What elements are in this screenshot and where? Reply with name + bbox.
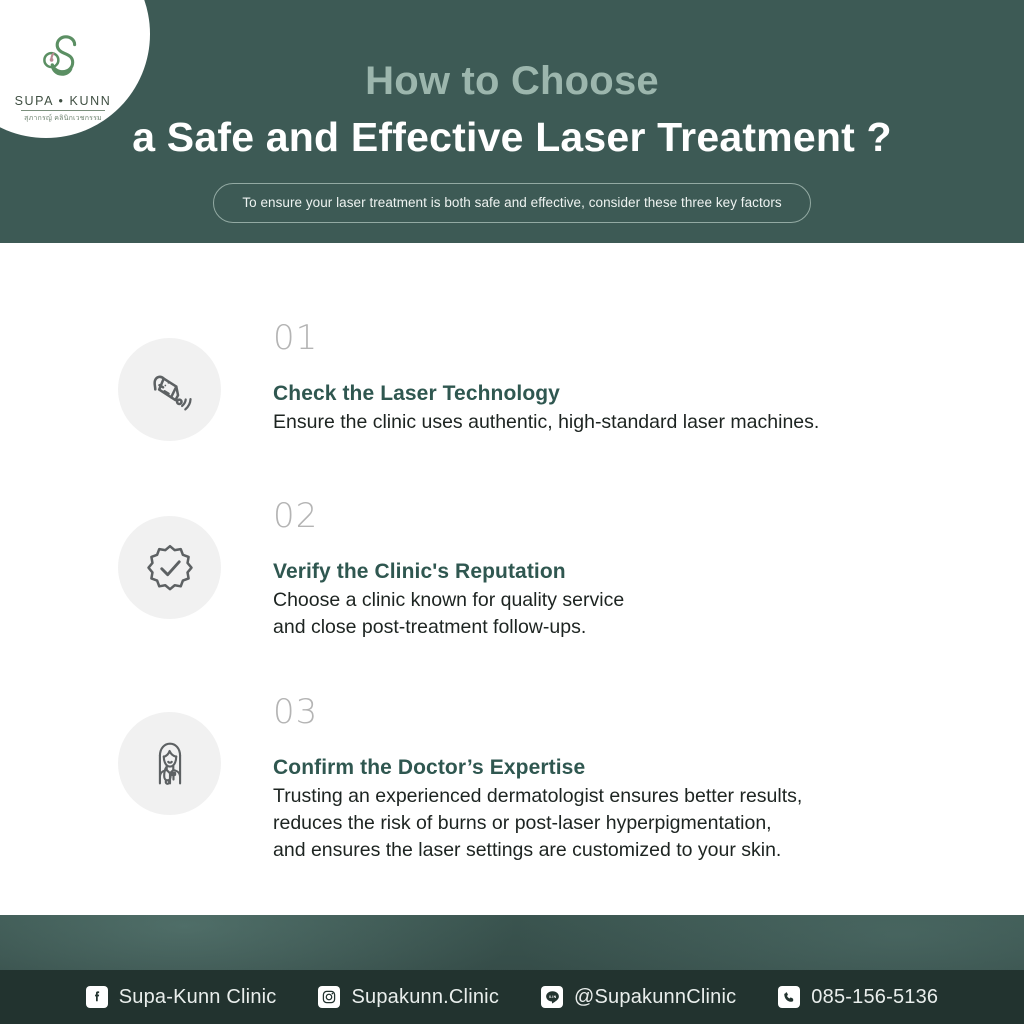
contact-phone[interactable]: 085-156-5136 [778, 986, 938, 1009]
subtitle-pill: To ensure your laser treatment is both s… [213, 183, 810, 223]
title-line-2: a Safe and Effective Laser Treatment ? [0, 114, 1024, 161]
step-description-line: reduces the risk of burns or post-laser … [273, 810, 802, 837]
list-item-body: 01 Check the Laser Technology Ensure the… [273, 321, 819, 436]
poster-canvas: SUPA • KUNN สุภากรญ์ คลินิกเวชกรรม How t… [0, 0, 1024, 1024]
step-number: 01 [273, 321, 819, 355]
step-description: Trusting an experienced dermatologist en… [273, 783, 802, 864]
header-banner: SUPA • KUNN สุภากรญ์ คลินิกเวชกรรม How t… [0, 0, 1024, 243]
list-item-body: 03 Confirm the Doctor’s Expertise Trusti… [273, 695, 802, 864]
list-item: 01 Check the Laser Technology Ensure the… [118, 321, 819, 441]
step-number: 03 [273, 695, 802, 729]
title-line-1: How to Choose [0, 58, 1024, 104]
laser-handpiece-icon [118, 338, 221, 441]
instagram-icon [318, 986, 340, 1008]
phone-icon [778, 986, 800, 1008]
step-description-line: and ensures the laser settings are custo… [273, 837, 802, 864]
contact-line[interactable]: @SupakunnClinic [541, 986, 736, 1009]
step-number: 02 [273, 499, 624, 533]
contact-instagram[interactable]: Supakunn.Clinic [318, 986, 499, 1009]
line-icon [541, 986, 563, 1008]
list-item: 03 Confirm the Doctor’s Expertise Trusti… [118, 695, 802, 864]
step-description: Choose a clinic known for quality servic… [273, 587, 624, 641]
step-description: Ensure the clinic uses authentic, high-s… [273, 409, 819, 436]
list-item: 02 Verify the Clinic's Reputation Choose… [118, 499, 624, 641]
contact-label: @SupakunnClinic [574, 986, 736, 1009]
header-text-block: How to Choose a Safe and Effective Laser… [0, 0, 1024, 223]
contact-facebook[interactable]: Supa-Kunn Clinic [86, 986, 277, 1009]
step-title: Check the Laser Technology [273, 381, 819, 406]
footer-contact-bar: Supa-Kunn Clinic Supakunn.Clinic @Supaku… [0, 970, 1024, 1024]
contact-label: Supa-Kunn Clinic [119, 986, 277, 1009]
list-item-body: 02 Verify the Clinic's Reputation Choose… [273, 499, 624, 641]
female-doctor-icon [118, 712, 221, 815]
steps-list: 01 Check the Laser Technology Ensure the… [0, 243, 1024, 915]
step-description-line: and close post-treatment follow-ups. [273, 614, 624, 641]
contact-label: Supakunn.Clinic [351, 986, 499, 1009]
verified-badge-check-icon [118, 516, 221, 619]
step-description-line: Ensure the clinic uses authentic, high-s… [273, 409, 819, 436]
step-title: Confirm the Doctor’s Expertise [273, 755, 802, 780]
step-title: Verify the Clinic's Reputation [273, 559, 624, 584]
facebook-icon [86, 986, 108, 1008]
step-description-line: Trusting an experienced dermatologist en… [273, 783, 802, 810]
contact-label: 085-156-5136 [811, 986, 938, 1009]
step-description-line: Choose a clinic known for quality servic… [273, 587, 624, 614]
